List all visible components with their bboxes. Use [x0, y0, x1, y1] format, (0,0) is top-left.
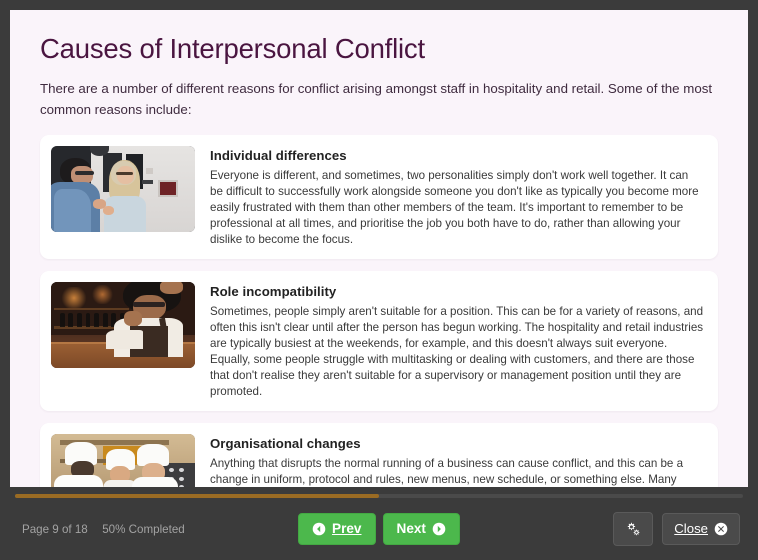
close-button-label: Close — [674, 522, 708, 535]
cause-thumbnail-chefs-kitchen — [51, 434, 195, 487]
slide-content-panel: Causes of Interpersonal Conflict There a… — [10, 10, 748, 487]
next-button-label: Next — [397, 522, 426, 536]
close-button[interactable]: Close — [662, 513, 740, 545]
page-status: Page 9 of 18 50% Completed — [22, 523, 185, 536]
cogs-icon — [625, 521, 641, 537]
prev-button[interactable]: Prev — [298, 513, 375, 545]
cause-thumbnail-bored-bar-staff — [51, 282, 195, 368]
close-circle-icon — [714, 522, 728, 536]
next-button[interactable]: Next — [383, 513, 460, 545]
cause-card-title: Organisational changes — [210, 436, 704, 451]
settings-button[interactable] — [613, 512, 653, 546]
chevron-left-circle-icon — [312, 522, 326, 536]
cause-card-body: Individual differences Everyone is diffe… — [210, 146, 704, 248]
cause-card-organisational-changes: Organisational changes Anything that dis… — [40, 423, 718, 487]
cause-card-text: Anything that disrupts the normal runnin… — [210, 456, 704, 487]
prev-button-label: Prev — [332, 522, 361, 536]
slide-scroll-area[interactable]: Causes of Interpersonal Conflict There a… — [10, 10, 748, 487]
cause-card-individual-differences: Individual differences Everyone is diffe… — [40, 135, 718, 259]
causes-card-list: Individual differences Everyone is diffe… — [40, 135, 718, 487]
cause-card-body: Organisational changes Anything that dis… — [210, 434, 704, 487]
cause-card-title: Individual differences — [210, 148, 704, 163]
cause-card-text: Everyone is different, and sometimes, tw… — [210, 168, 704, 248]
cause-card-text: Sometimes, people simply aren't suitable… — [210, 304, 704, 400]
cause-card-role-incompatibility: Role incompatibility Sometimes, people s… — [40, 271, 718, 411]
course-player-window: Causes of Interpersonal Conflict There a… — [0, 0, 758, 560]
intro-paragraph: There are a number of different reasons … — [40, 79, 718, 119]
nav-right-buttons: Close — [613, 512, 740, 546]
completion-label: 50% Completed — [102, 523, 185, 536]
player-navigation-bar: Page 9 of 18 50% Completed Prev Next — [0, 487, 758, 560]
chevron-right-circle-icon — [432, 522, 446, 536]
page-title: Causes of Interpersonal Conflict — [40, 32, 718, 66]
cause-card-body: Role incompatibility Sometimes, people s… — [210, 282, 704, 400]
page-number-label: Page 9 of 18 — [22, 523, 88, 536]
cause-thumbnail-office-conversation — [51, 146, 195, 232]
cause-card-title: Role incompatibility — [210, 284, 704, 299]
